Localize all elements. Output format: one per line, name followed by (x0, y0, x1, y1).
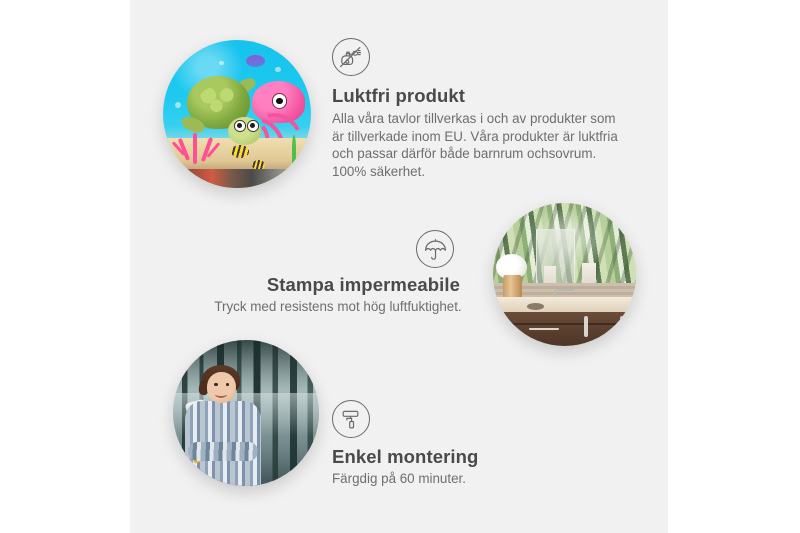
bubble-decoration (175, 102, 181, 108)
turtle-eye (234, 120, 246, 132)
sea-bottom-strip (163, 169, 311, 188)
feature-body: Färgdig på 60 minuter. (332, 470, 592, 488)
photo-forest-mural (173, 340, 319, 486)
coral (175, 120, 219, 164)
woman-face (207, 372, 236, 403)
feature-title: Stampa impermeabile (213, 274, 463, 296)
turtle-eye (247, 120, 259, 132)
umbrella-icon (416, 230, 454, 268)
feature-title: Luktfri produkt (332, 85, 624, 107)
paint-roller-icon (332, 400, 370, 438)
feature-title: Enkel montering (332, 446, 592, 468)
cabinet-handle (620, 316, 624, 337)
forest-canopy (173, 340, 319, 390)
fish-purple (246, 55, 265, 67)
cabinet-handle (584, 316, 588, 337)
vanity-cabinet (499, 312, 636, 346)
bubble-decoration (219, 61, 223, 65)
woman-arm (188, 442, 258, 461)
bubble-decoration (275, 67, 280, 72)
feature-odorless: Luktfri produkt Alla våra tavlor tillver… (332, 38, 624, 180)
cabinet-seam (499, 323, 636, 325)
photo-bathroom-mural (493, 203, 636, 346)
page-root: Luktfri produkt Alla våra tavlor tillver… (0, 0, 800, 533)
feature-easy-mounting: Enkel montering Färgdig på 60 minuter. (332, 400, 592, 488)
feature-body: Tryck med resistens mot hög luftfuktighe… (213, 298, 463, 316)
feature-body: Alla våra tavlor tillverkas i och av pro… (332, 110, 624, 180)
no-odor-perfume-icon (332, 38, 370, 76)
photo-sea-mural (163, 40, 311, 188)
feature-waterproof: Stampa impermeabile Tryck med resistens … (213, 230, 463, 316)
octopus-eye (272, 93, 287, 108)
seaweed (292, 135, 296, 168)
cabinet-handle (529, 328, 559, 329)
woman-eye (214, 383, 218, 386)
